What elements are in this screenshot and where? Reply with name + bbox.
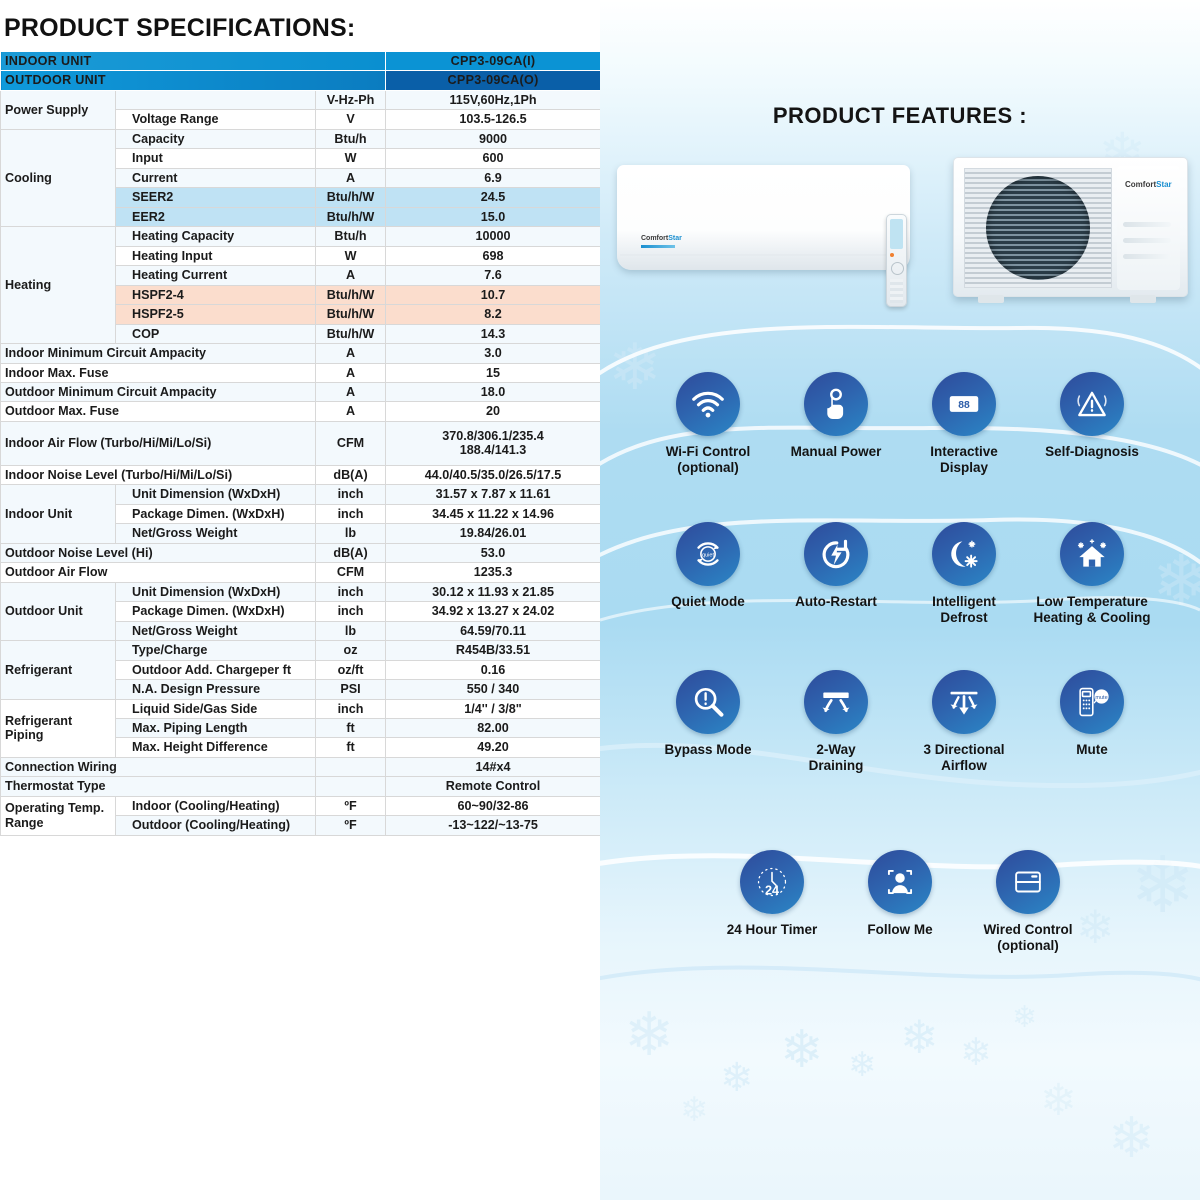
row-label — [116, 90, 316, 109]
row-unit: Btu/h/W — [316, 285, 386, 304]
row-label: Type/Charge — [116, 641, 316, 660]
row-label: Package Dimen. (WxDxH) — [116, 504, 316, 523]
table-row: Outdoor Minimum Circuit AmpacityA18.0 — [1, 382, 601, 401]
row-unit: Btu/h — [316, 227, 386, 246]
feature-label: Auto-Restart — [772, 594, 900, 610]
row-group-label: Cooling — [1, 129, 116, 226]
wired-control-icon — [996, 850, 1060, 914]
row-unit: A — [316, 168, 386, 187]
feature-hand-touch: Manual Power — [772, 372, 900, 477]
feature-two-way-drain: 2-WayDraining — [772, 670, 900, 775]
row-label: Net/Gross Weight — [116, 524, 316, 543]
magnifier-alert-icon — [676, 670, 740, 734]
feature-auto-restart: Auto-Restart — [772, 522, 900, 627]
row-group-label: Indoor Unit — [1, 485, 116, 543]
row-value: 64.59/70.11 — [386, 621, 601, 640]
product-spec-sheet: PRODUCT SPECIFICATIONS: INDOOR UNITCPP3-… — [0, 0, 1200, 1200]
row-label: Liquid Side/Gas Side — [116, 699, 316, 718]
table-row: HeatingHeating CapacityBtu/h10000 — [1, 227, 601, 246]
feature-follow-me: Follow Me — [836, 850, 964, 955]
row-value: 698 — [386, 246, 601, 265]
wifi-icon — [676, 372, 740, 436]
row-unit: CFM — [316, 421, 386, 465]
table-row: Indoor UnitUnit Dimension (WxDxH)inch31.… — [1, 485, 601, 504]
remote-keys — [890, 279, 903, 303]
row-value: 15 — [386, 363, 601, 382]
feature-label: IntelligentDefrost — [900, 594, 1028, 627]
row-label: Voltage Range — [116, 110, 316, 129]
feature-label: Quiet Mode — [644, 594, 772, 610]
table-row: Indoor Air Flow (Turbo/Hi/Mi/Lo/Si)CFM37… — [1, 421, 601, 465]
row-group-label: Refrigerant — [1, 641, 116, 699]
row-unit: inch — [316, 504, 386, 523]
svg-text:88: 88 — [958, 400, 970, 411]
row-label: Current — [116, 168, 316, 187]
row-label: Max. Height Difference — [116, 738, 316, 757]
row-value: R454B/33.51 — [386, 641, 601, 660]
row-label: COP — [116, 324, 316, 343]
row-value: 1/4'' / 3/8" — [386, 699, 601, 718]
row-group-label: Heating — [1, 227, 116, 344]
row-value: 103.5-126.5 — [386, 110, 601, 129]
row-label: Heating Input — [116, 246, 316, 265]
table-row: Indoor Max. FuseA15 — [1, 363, 601, 382]
row-unit: inch — [316, 699, 386, 718]
row-value: 370.8/306.1/235.4188.4/141.3 — [386, 421, 601, 465]
feature-label: Low TemperatureHeating & Cooling — [1028, 594, 1156, 627]
auto-restart-icon — [804, 522, 868, 586]
row-unit: A — [316, 266, 386, 285]
row-value: 10000 — [386, 227, 601, 246]
row-value: 49.20 — [386, 738, 601, 757]
row-label: Connection Wiring — [1, 757, 316, 776]
row-unit: Btu/h/W — [316, 188, 386, 207]
table-row: Outdoor Max. FuseA20 — [1, 402, 601, 421]
table-row: Indoor Minimum Circuit AmpacityA3.0 — [1, 344, 601, 363]
feature-snowflake-moon: IntelligentDefrost — [900, 522, 1028, 627]
feature-label-line2: (optional) — [964, 938, 1092, 954]
row-unit: oz/ft — [316, 660, 386, 679]
row-label: HSPF2-4 — [116, 285, 316, 304]
row-group-label: Refrigerant Piping — [1, 699, 116, 757]
feature-label-line2: Airflow — [900, 758, 1028, 774]
row-unit: CFM — [316, 563, 386, 582]
row-unit — [316, 777, 386, 796]
row-value: 0.16 — [386, 660, 601, 679]
feature-label: Wi-Fi Control(optional) — [644, 444, 772, 477]
row-label: Outdoor Max. Fuse — [1, 402, 316, 421]
table-row: Outdoor UnitUnit Dimension (WxDxH)inch30… — [1, 582, 601, 601]
three-airflow-icon — [932, 670, 996, 734]
row-label: Outdoor Noise Level (Hi) — [1, 543, 316, 562]
row-value: 19.84/26.01 — [386, 524, 601, 543]
row-label: Heating Capacity — [116, 227, 316, 246]
feature-label: Follow Me — [836, 922, 964, 938]
feature-label: 24 Hour Timer — [708, 922, 836, 938]
row-label: Indoor Air Flow (Turbo/Hi/Mi/Lo/Si) — [1, 421, 316, 465]
indoor-model-value: CPP3-09CA(I) — [386, 52, 601, 71]
row-value: 15.0 — [386, 207, 601, 226]
row-unit: V — [316, 110, 386, 129]
mute-remote-icon: mute — [1060, 670, 1124, 734]
indoor-unit-header: INDOOR UNIT — [1, 52, 386, 71]
row-unit: W — [316, 149, 386, 168]
row-group-label: Outdoor Unit — [1, 582, 116, 640]
row-value: 115V,60Hz,1Ph — [386, 90, 601, 109]
table-row: CoolingCapacityBtu/h9000 — [1, 129, 601, 148]
hand-touch-icon — [804, 372, 868, 436]
feature-label: Manual Power — [772, 444, 900, 460]
row-label: Capacity — [116, 129, 316, 148]
table-row: RefrigerantType/ChargeozR454B/33.51 — [1, 641, 601, 660]
row-label: Outdoor Air Flow — [1, 563, 316, 582]
row-unit: ft — [316, 719, 386, 738]
row-unit: V-Hz-Ph — [316, 90, 386, 109]
feature-label: Wired Control(optional) — [964, 922, 1092, 955]
row-value: 82.00 — [386, 719, 601, 738]
row-value: 1235.3 — [386, 563, 601, 582]
product-photo: ComfortStar ComfortStar — [608, 152, 1198, 337]
specifications-table: INDOOR UNITCPP3-09CA(I)OUTDOOR UNITCPP3-… — [0, 51, 601, 836]
brand-logo-outdoor: ComfortStar — [1125, 180, 1172, 189]
row-label: EER2 — [116, 207, 316, 226]
feature-label: InteractiveDisplay — [900, 444, 1028, 477]
row-label: SEER2 — [116, 188, 316, 207]
row-value: 18.0 — [386, 382, 601, 401]
quiet-loop-icon: quiet — [676, 522, 740, 586]
row-label: Outdoor (Cooling/Heating) — [116, 816, 316, 835]
feature-house-snow: Low TemperatureHeating & Cooling — [1028, 522, 1156, 627]
row-group-label: Power Supply — [1, 90, 116, 129]
row-unit: lb — [316, 621, 386, 640]
brand-logo-indoor: ComfortStar — [641, 235, 682, 242]
outdoor-side-panel: ComfortStar — [1117, 166, 1180, 290]
specifications-panel: PRODUCT SPECIFICATIONS: INDOOR UNITCPP3-… — [0, 0, 600, 1200]
feature-mute-remote: muteMute — [1028, 670, 1156, 775]
row-value: 10.7 — [386, 285, 601, 304]
two-way-drain-icon — [804, 670, 868, 734]
feature-label: Mute — [1028, 742, 1156, 758]
row-group-label: Operating Temp. Range — [1, 796, 116, 835]
row-value: -13~122/~13-75 — [386, 816, 601, 835]
table-row: Power SupplyV-Hz-Ph115V,60Hz,1Ph — [1, 90, 601, 109]
row-unit: inch — [316, 485, 386, 504]
row-value: 31.57 x 7.87 x 11.61 — [386, 485, 601, 504]
row-unit: Btu/h — [316, 129, 386, 148]
row-label: Unit Dimension (WxDxH) — [116, 485, 316, 504]
row-value: 24.5 — [386, 188, 601, 207]
row-value: Remote Control — [386, 777, 601, 796]
row-value: 7.6 — [386, 266, 601, 285]
outdoor-unit-image: ComfortStar — [953, 157, 1188, 297]
follow-me-icon — [868, 850, 932, 914]
row-value: 14.3 — [386, 324, 601, 343]
row-label: Input — [116, 149, 316, 168]
outdoor-fan-grille — [964, 168, 1112, 288]
warning-triangle-icon — [1060, 372, 1124, 436]
house-snow-icon — [1060, 522, 1124, 586]
row-unit: A — [316, 344, 386, 363]
remote-screen — [890, 219, 903, 249]
row-unit: PSI — [316, 680, 386, 699]
feature-warning-triangle: Self-Diagnosis — [1028, 372, 1156, 477]
row-label: Net/Gross Weight — [116, 621, 316, 640]
page-title: PRODUCT SPECIFICATIONS: — [0, 0, 600, 51]
row-unit: Btu/h/W — [316, 305, 386, 324]
svg-text:quiet: quiet — [702, 552, 714, 558]
row-unit: inch — [316, 602, 386, 621]
brand-bar-indoor — [641, 245, 675, 248]
row-value: 550 / 340 — [386, 680, 601, 699]
row-label: Unit Dimension (WxDxH) — [116, 582, 316, 601]
feature-display: 88InteractiveDisplay — [900, 372, 1028, 477]
row-unit: Btu/h/W — [316, 207, 386, 226]
display-icon: 88 — [932, 372, 996, 436]
row-label: Indoor Max. Fuse — [1, 363, 316, 382]
outdoor-model-value: CPP3-09CA(O) — [386, 71, 601, 90]
row-unit: A — [316, 363, 386, 382]
row-label: Thermostat Type — [1, 777, 316, 796]
row-value: 6.9 — [386, 168, 601, 187]
feature-label: 3 DirectionalAirflow — [900, 742, 1028, 775]
feature-label-line2: Display — [900, 460, 1028, 476]
feature-clock-24: 2424 Hour Timer — [708, 850, 836, 955]
row-unit — [316, 757, 386, 776]
row-unit: lb — [316, 524, 386, 543]
row-label: Indoor (Cooling/Heating) — [116, 796, 316, 815]
row-unit: inch — [316, 582, 386, 601]
table-row: Operating Temp. RangeIndoor (Cooling/Hea… — [1, 796, 601, 815]
row-label: Heating Current — [116, 266, 316, 285]
row-unit: dB(A) — [316, 543, 386, 562]
row-value: 34.45 x 11.22 x 14.96 — [386, 504, 601, 523]
features-panel: ❄ ❄ ❄ ❄ ❄ ❄ ❄ ❄ ❄ ❄ ❄ ❄ ❄ ❄ ❄ ❄ — [600, 0, 1200, 1200]
feature-magnifier-alert: Bypass Mode — [644, 670, 772, 775]
outdoor-unit-header: OUTDOOR UNIT — [1, 71, 386, 90]
table-row: Outdoor Noise Level (Hi)dB(A)53.0 — [1, 543, 601, 562]
row-value: 8.2 — [386, 305, 601, 324]
row-value: 44.0/40.5/35.0/26.5/17.5 — [386, 465, 601, 484]
table-row: Refrigerant PipingLiquid Side/Gas Sidein… — [1, 699, 601, 718]
row-value: 60~90/32-86 — [386, 796, 601, 815]
row-value: 9000 — [386, 129, 601, 148]
snowflake-moon-icon — [932, 522, 996, 586]
table-row: Connection Wiring14#x4 — [1, 757, 601, 776]
feature-label: 2-WayDraining — [772, 742, 900, 775]
row-label: N.A. Design Pressure — [116, 680, 316, 699]
row-label: Indoor Noise Level (Turbo/Hi/Mi/Lo/Si) — [1, 465, 316, 484]
row-value: 30.12 x 11.93 x 21.85 — [386, 582, 601, 601]
row-value: 14#x4 — [386, 757, 601, 776]
row-label: Outdoor Add. Chargeper ft — [116, 660, 316, 679]
svg-text:24: 24 — [765, 884, 779, 898]
row-label: Max. Piping Length — [116, 719, 316, 738]
table-row: Thermostat TypeRemote Control — [1, 777, 601, 796]
row-unit: A — [316, 382, 386, 401]
features-title: PRODUCT FEATURES : — [600, 103, 1200, 129]
remote-control-image — [886, 214, 907, 307]
feature-wifi: Wi-Fi Control(optional) — [644, 372, 772, 477]
row-value: 53.0 — [386, 543, 601, 562]
feature-label-line2: Heating & Cooling — [1028, 610, 1156, 626]
row-label: HSPF2-5 — [116, 305, 316, 324]
feature-label-line2: (optional) — [644, 460, 772, 476]
row-value: 20 — [386, 402, 601, 421]
row-unit: Btu/h/W — [316, 324, 386, 343]
row-value: 600 — [386, 149, 601, 168]
row-label: Outdoor Minimum Circuit Ampacity — [1, 382, 316, 401]
table-row: Outdoor Air FlowCFM1235.3 — [1, 563, 601, 582]
row-unit: ft — [316, 738, 386, 757]
row-label: Indoor Minimum Circuit Ampacity — [1, 344, 316, 363]
row-value: 34.92 x 13.27 x 24.02 — [386, 602, 601, 621]
row-unit: oz — [316, 641, 386, 660]
feature-three-airflow: 3 DirectionalAirflow — [900, 670, 1028, 775]
remote-power-dot — [890, 253, 894, 257]
row-unit: ºF — [316, 816, 386, 835]
indoor-unit-image: ComfortStar — [617, 165, 910, 270]
feature-wired-control: Wired Control(optional) — [964, 850, 1092, 955]
table-row: Indoor Noise Level (Turbo/Hi/Mi/Lo/Si)dB… — [1, 465, 601, 484]
row-unit: A — [316, 402, 386, 421]
row-unit: W — [316, 246, 386, 265]
feature-label: Bypass Mode — [644, 742, 772, 758]
remote-dpad — [891, 262, 904, 275]
feature-label: Self-Diagnosis — [1028, 444, 1156, 460]
row-value: 3.0 — [386, 344, 601, 363]
feature-label-line2: Defrost — [900, 610, 1028, 626]
row-label: Package Dimen. (WxDxH) — [116, 602, 316, 621]
feature-label-line2: Draining — [772, 758, 900, 774]
feature-quiet-loop: quietQuiet Mode — [644, 522, 772, 627]
row-unit: ºF — [316, 796, 386, 815]
row-unit: dB(A) — [316, 465, 386, 484]
clock-24-icon: 24 — [740, 850, 804, 914]
